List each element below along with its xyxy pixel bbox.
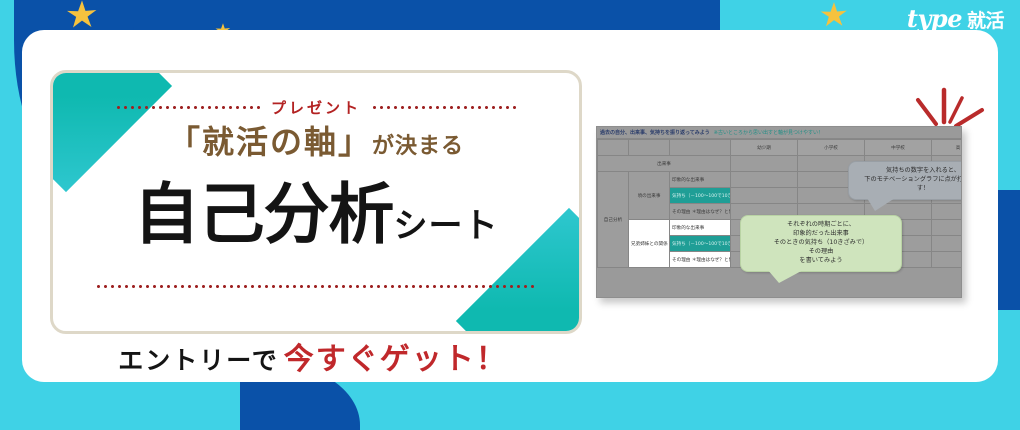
present-row: プレゼント [53,97,579,118]
callout-green: それぞれの時期ごとに、 印象的だった出来事 そのときの気持ち（10きざみで） そ… [740,215,902,272]
callout-green-line-5: を書いてみよう [747,257,895,266]
row-label-feeling: 気持ち（－100～100で10きざみ） [670,188,731,204]
side-label-group2: 兄弟姉妹との関係 [629,220,670,268]
dotted-rule-bottom [95,285,537,288]
card-title-main: 自己分析 [134,176,394,253]
row-label-event-summary: 出来事 [598,156,731,172]
card-subtitle-quoted: 「就活の軸」 [168,123,372,161]
row-label-event: 印象的な出来事 [670,172,731,188]
campaign-banner: type 就活 プレゼント 「就活の軸」が決まる 自己分析シート エントリーで … [0,0,1020,430]
side-label-outer: 自己分析 [598,172,629,268]
row-label-feeling: 気持ち（－100～100で10きざみ） [670,236,731,252]
sheet-title-main: 過去の自分、出来事、気持ちを振り返ってみよう [600,129,710,136]
star-icon [818,0,850,32]
row-label-reason: その理由 ＊理由はなぜ？と問いかけよう [670,252,731,268]
dotted-rule-left [115,106,261,109]
spreadsheet-screenshot[interactable]: 過去の自分、出来事、気持ちを振り返ってみよう ※古いところから思い出すと軸が見つ… [596,126,962,298]
present-label: プレゼント [271,97,361,118]
column-header: 小学校 [798,140,865,156]
column-header: 高 [932,140,963,156]
callout-gray: 気持ちの数字を入れると、 下のモチベーショングラフに点が打たれま す！ [848,161,962,200]
card-subtitle: 「就活の軸」が決まる [53,117,579,163]
brand-logo-type: type [907,4,962,33]
table-row: 幼少期 小学校 中学校 高 [598,140,963,156]
brand-logo: type 就活 [907,4,1004,33]
callout-gray-tail [867,198,895,211]
row-label-reason: その理由 ＊理由はなぜ？と問いかけよう [670,204,731,220]
callout-gray-line-2: 下のモチベーショングラフに点が打たれま [855,176,962,185]
brand-logo-jp: 就活 [967,6,1004,33]
cta-text: エントリーで 今すぐゲット！ [50,334,576,378]
callout-green-line-2: 印象的だった出来事 [747,230,895,239]
sheet-title-bar: 過去の自分、出来事、気持ちを振り返ってみよう ※古いところから思い出すと軸が見つ… [597,127,961,139]
callout-green-line-3: そのときの気持ち（10きざみで） [747,239,895,248]
column-header: 中学校 [865,140,932,156]
callout-green-line-1: それぞれの時期ごとに、 [747,221,895,230]
offer-card: プレゼント 「就活の軸」が決まる 自己分析シート [50,70,582,334]
column-header: 幼少期 [731,140,798,156]
callout-gray-line-1: 気持ちの数字を入れると、 [855,167,962,176]
card-title: 自己分析シート [53,161,579,257]
card-subtitle-tail: が決まる [372,134,464,159]
side-label-group1: 頃の出来事 [629,172,670,220]
row-label-event: 印象的な出来事 [670,220,731,236]
sheet-title-note: ※古いところから思い出すと軸が見つけやすい！ [714,129,823,136]
callout-green-line-4: その理由 [747,248,895,257]
dotted-rule-right [371,106,517,109]
cta-highlight: 今すぐゲット！ [284,342,508,377]
callout-green-tail [767,269,805,283]
star-icon [64,0,100,34]
cta-lead: エントリーで [118,346,279,375]
callout-gray-line-3: す！ [855,185,962,194]
card-title-sub: シート [394,206,499,246]
